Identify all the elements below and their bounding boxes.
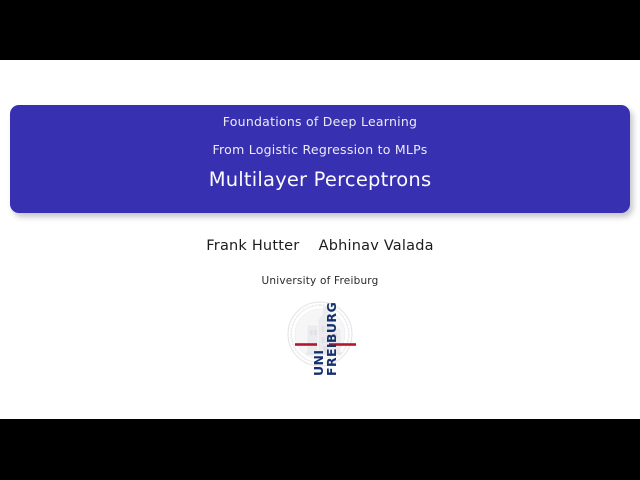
freiburg-logo-svg: UNI FREIBURG — [282, 296, 370, 378]
author-names: Frank Hutter Abhinav Valada — [0, 238, 640, 254]
letterbox-top-bar — [0, 0, 640, 60]
letterbox-bottom-bar — [0, 419, 640, 480]
slide-title-block: Foundations of Deep Learning From Logist… — [10, 105, 630, 213]
slide-main-title: Multilayer Perceptrons — [209, 170, 432, 190]
presentation-slide: Foundations of Deep Learning From Logist… — [0, 60, 640, 419]
course-title: Foundations of Deep Learning — [223, 116, 417, 129]
affiliation-text: University of Freiburg — [0, 275, 640, 287]
logo-wordmark-freiburg: FREIBURG — [324, 302, 339, 376]
university-of-freiburg-logo: UNI FREIBURG — [282, 296, 370, 378]
course-subtitle: From Logistic Regression to MLPs — [213, 144, 428, 157]
video-viewport: Foundations of Deep Learning From Logist… — [0, 0, 640, 480]
